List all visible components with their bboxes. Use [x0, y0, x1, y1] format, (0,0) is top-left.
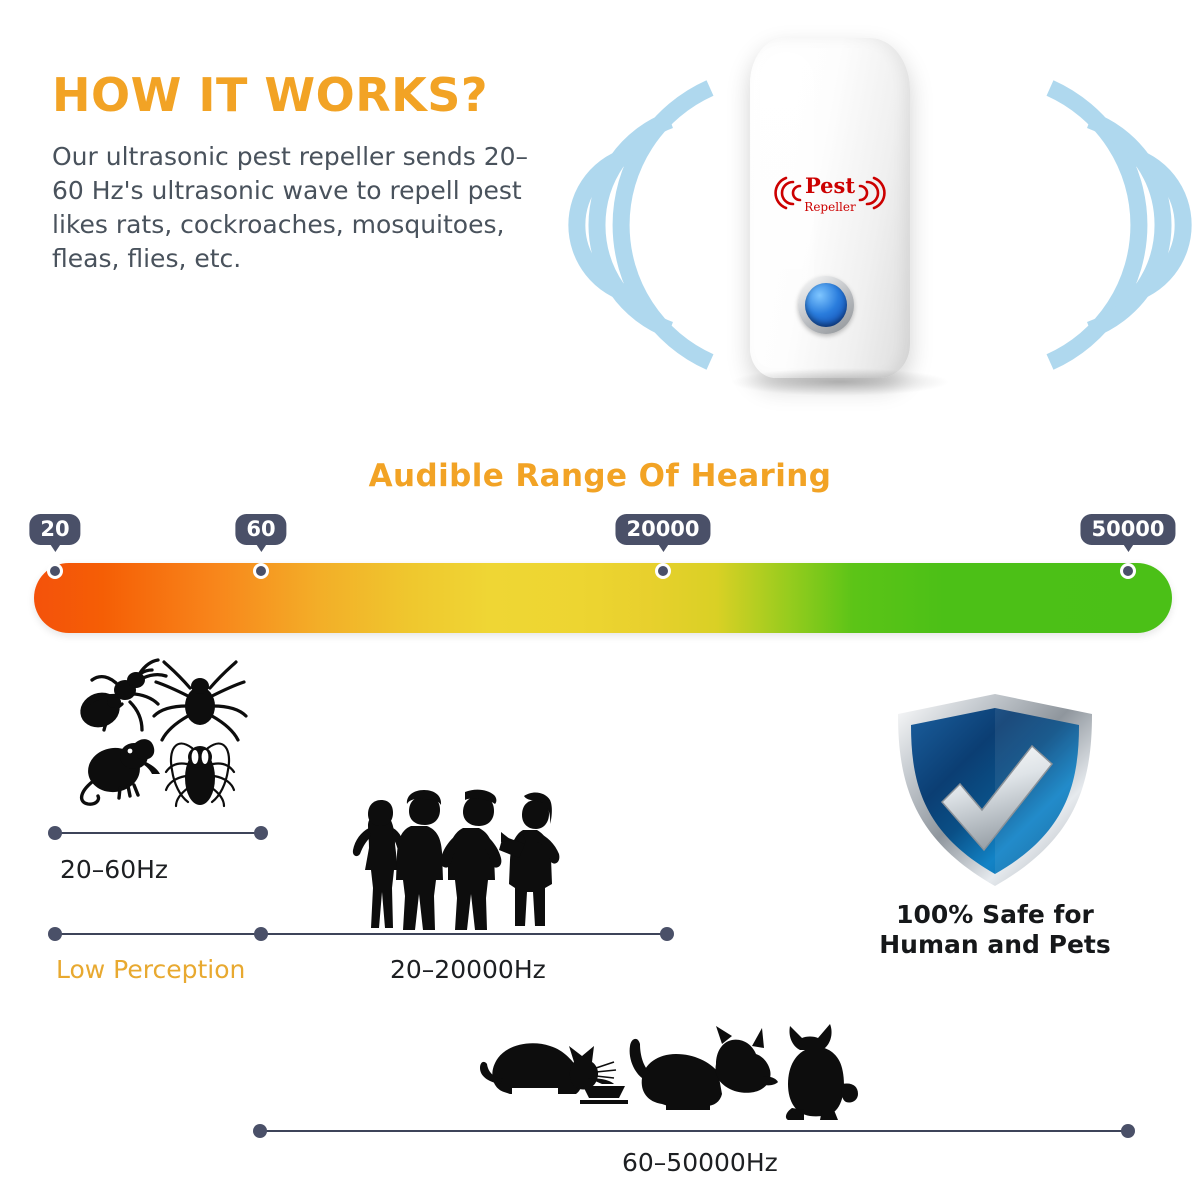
pest-repeller-logo: Pest Repeller [772, 166, 888, 222]
mouse-icon [85, 739, 160, 795]
range-label-humans: 20–20000Hz [390, 955, 546, 984]
frequency-gradient-bar [34, 563, 1172, 633]
range-line-humans-dot-mid [254, 927, 268, 941]
axis-marker-20-dot [47, 563, 63, 579]
device-shadow [730, 368, 950, 396]
logo-brand-line2: Repeller [804, 200, 856, 214]
device-illustration: Pest Repeller [560, 10, 1200, 440]
safety-caption-line2: Human and Pets [845, 930, 1145, 960]
infographic-page: HOW IT WORKS? Our ultrasonic pest repell… [0, 0, 1200, 1200]
range-line-pests-dot-left [48, 826, 62, 840]
cat-sitting-icon [786, 1024, 858, 1120]
chart-title: Audible Range Of Hearing [0, 458, 1200, 494]
safety-shield-icon [880, 688, 1110, 898]
range-line-pests-dot-right [254, 826, 268, 840]
axis-marker-20000-label: 20000 [615, 514, 710, 545]
logo-brand-line1: Pest [805, 173, 855, 198]
page-title: HOW IT WORKS? [52, 68, 488, 122]
dog-lying-icon [630, 1026, 778, 1110]
range-line-pets-dot-left [253, 1124, 267, 1138]
axis-marker-60-label: 60 [235, 514, 286, 545]
axis-marker-20000-dot [655, 563, 671, 579]
range-label-pets: 60–50000Hz [622, 1148, 778, 1177]
cat-eating-icon [480, 1043, 628, 1104]
cockroach-icon [166, 744, 234, 806]
pet-silhouette-group [470, 1020, 860, 1125]
device-power-button[interactable] [798, 276, 854, 334]
low-perception-label: Low Perception [56, 955, 245, 984]
range-line-pests [53, 832, 263, 834]
axis-marker-60-dot [253, 563, 269, 579]
range-line-humans-dot-right [660, 927, 674, 941]
safety-caption: 100% Safe for Human and Pets [845, 900, 1145, 960]
axis-marker-50000-label: 50000 [1080, 514, 1175, 545]
range-line-humans [53, 933, 669, 935]
woman-silhouette-icon [499, 793, 559, 926]
axis-marker-50000-dot [1120, 563, 1136, 579]
safety-caption-line1: 100% Safe for [845, 900, 1145, 930]
range-line-humans-dot-left [48, 927, 62, 941]
device-body: Pest Repeller [750, 38, 910, 378]
range-line-pets-dot-right [1121, 1124, 1135, 1138]
intro-paragraph: Our ultrasonic pest repeller sends 20–60… [52, 140, 532, 276]
axis-marker-20-label: 20 [29, 514, 80, 545]
human-silhouette-group [343, 788, 573, 932]
man-silhouette-icon [441, 790, 502, 930]
pest-repeller-device: Pest Repeller [750, 38, 935, 383]
range-label-pests: 20–60Hz [60, 855, 168, 884]
pest-icon-group [72, 658, 248, 810]
man-silhouette-icon [396, 790, 443, 930]
range-line-pets [258, 1130, 1130, 1132]
